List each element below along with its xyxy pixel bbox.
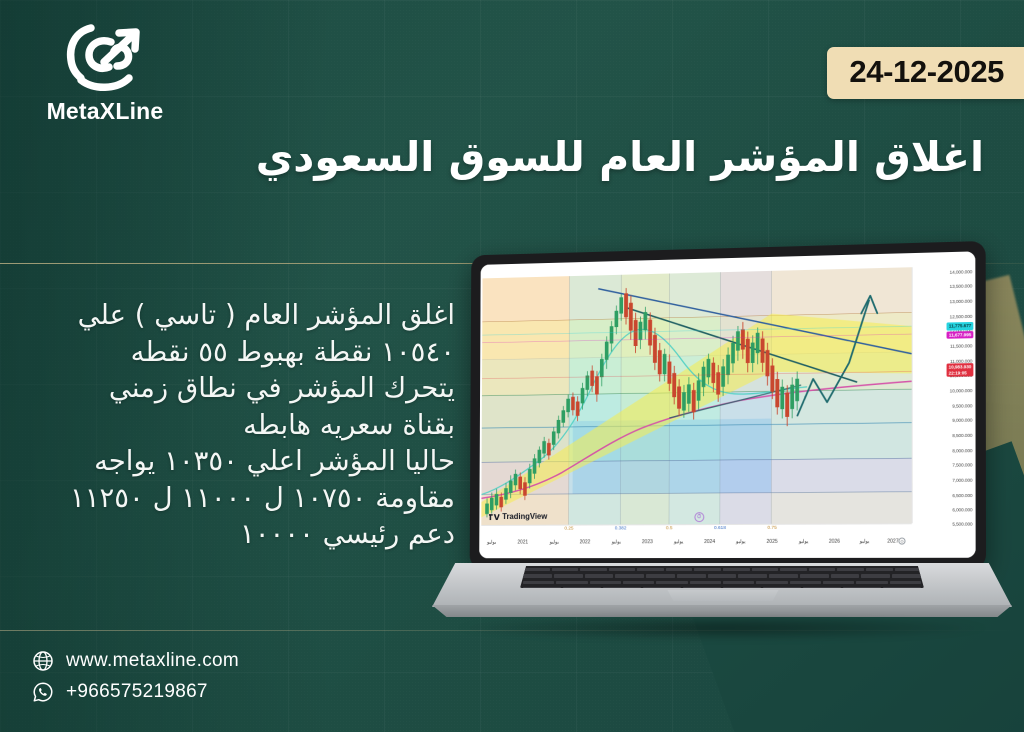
time-tick: يوليو xyxy=(736,539,746,545)
fib-label: 0.5 xyxy=(666,526,673,531)
price-label-cyan: 11,775.677 xyxy=(947,322,974,330)
brand-block: MetaXLine xyxy=(30,18,180,125)
keyboard-row xyxy=(520,566,924,573)
body-line: اغلق المؤشر العام ( تاسي ) علي xyxy=(15,297,455,334)
price-label-magenta: 11,677.995 xyxy=(947,331,974,339)
price-tick: 13,000.000 xyxy=(950,299,973,305)
time-tick: 2026 xyxy=(829,539,840,545)
time-tick: 2025 xyxy=(767,539,778,545)
axis-settings-icon[interactable]: ⊙ xyxy=(898,538,905,545)
footer-phone-row[interactable]: +966575219867 xyxy=(32,681,239,703)
price-axis[interactable]: 14,000.000 13,500.000 13,000.000 12,500.… xyxy=(912,266,976,524)
price-label-current: 10,983.930 22:19:05 xyxy=(947,363,974,376)
body-line: حاليا المؤشر اعلي ١٠٣٥٠ يواجه xyxy=(15,443,455,480)
price-tick: 12,500.000 xyxy=(950,313,973,319)
date-badge: 24-12-2025 xyxy=(827,47,1024,99)
time-tick: 2021 xyxy=(517,540,528,546)
laptop-base-surface xyxy=(432,563,1012,607)
replay-icon[interactable]: ⏱ xyxy=(694,512,704,522)
price-label-current-time: 22:19:05 xyxy=(949,370,967,375)
whatsapp-icon xyxy=(32,681,54,703)
metaxline-logo-icon xyxy=(59,18,151,96)
chart-svg xyxy=(481,267,911,525)
body-line: بقناة سعريه هابطه xyxy=(15,407,455,444)
time-tick: 2023 xyxy=(642,539,653,545)
fib-label: 0.382 xyxy=(615,526,627,531)
time-tick: 2027 xyxy=(887,539,898,545)
fib-label: 0.75 xyxy=(767,526,776,531)
price-tick: 8,000.000 xyxy=(952,448,972,453)
price-tick: 11,500.000 xyxy=(950,343,972,349)
time-axis[interactable]: TradingView ⏱ 0.25 0.382 0.5 0.618 0.75 … xyxy=(481,523,912,558)
laptop-screen: 14,000.000 13,500.000 13,000.000 12,500.… xyxy=(479,251,975,558)
time-tick: 2024 xyxy=(704,539,715,545)
time-tick: يوليو xyxy=(612,539,621,545)
price-tick: 7,000.000 xyxy=(952,478,972,483)
price-tick: 9,500.000 xyxy=(952,403,972,408)
brand-name: MetaXLine xyxy=(30,98,180,125)
price-tick: 6,500.000 xyxy=(952,493,972,498)
laptop-mockup: 14,000.000 13,500.000 13,000.000 12,500.… xyxy=(432,247,1012,667)
price-tick: 13,500.000 xyxy=(950,284,973,290)
footer-contact: www.metaxline.com +966575219867 xyxy=(32,650,239,712)
price-tick: 8,500.000 xyxy=(952,433,972,438)
globe-icon xyxy=(32,650,54,672)
fib-label: 0.25 xyxy=(564,527,573,532)
laptop-drop-shadow xyxy=(452,615,992,641)
price-tick: 6,000.000 xyxy=(952,508,972,513)
keyboard-row xyxy=(520,586,924,588)
time-tick: يوليو xyxy=(674,539,683,545)
time-tick: يوليو xyxy=(860,539,870,545)
page-title: اغلاق المؤشر العام للسوق السعودي xyxy=(154,134,984,182)
body-line: ١٠٥٤٠ نقطة بهبوط ٥٥ نقطه xyxy=(15,334,455,371)
body-text-block: اغلق المؤشر العام ( تاسي ) علي ١٠٥٤٠ نقط… xyxy=(15,297,455,553)
body-line: دعم رئيسي ١٠٠٠٠ xyxy=(15,516,455,553)
time-tick: يوليو xyxy=(550,539,559,545)
laptop-keyboard xyxy=(520,566,924,588)
tradingview-label: TradingView xyxy=(502,512,547,521)
laptop-trackpad xyxy=(664,590,782,601)
time-tick: يوليو xyxy=(487,540,496,546)
price-tick: 5,500.000 xyxy=(952,522,972,527)
footer-website-row[interactable]: www.metaxline.com xyxy=(32,650,239,672)
tradingview-logo[interactable]: TradingView xyxy=(489,512,547,521)
time-tick: 2022 xyxy=(580,539,591,545)
tradingview-chart[interactable]: 14,000.000 13,500.000 13,000.000 12,500.… xyxy=(479,251,975,558)
body-line: مقاومة ١٠٧٥٠ ل ١١٠٠٠ ل ١١٢٥٠ xyxy=(15,480,455,517)
footer-website-text: www.metaxline.com xyxy=(66,650,239,672)
laptop-base xyxy=(432,563,1012,623)
keyboard-row xyxy=(520,573,924,580)
price-tick: 9,000.000 xyxy=(952,418,972,423)
chart-plot-area[interactable] xyxy=(481,267,911,525)
price-tick: 14,000.000 xyxy=(950,269,973,275)
poster-canvas: MetaXLine 24-12-2025 اغلاق المؤشر العام … xyxy=(0,0,1024,732)
body-line: يتحرك المؤشر في نطاق زمني xyxy=(15,370,455,407)
fib-label: 0.618 xyxy=(714,526,726,531)
footer-phone-text: +966575219867 xyxy=(66,681,208,703)
tradingview-mark-icon xyxy=(489,513,500,521)
time-tick: يوليو xyxy=(799,539,809,545)
keyboard-row xyxy=(520,579,924,586)
price-tick: 10,000.000 xyxy=(950,388,973,393)
price-tick: 7,500.000 xyxy=(952,463,972,468)
laptop-lid: 14,000.000 13,500.000 13,000.000 12,500.… xyxy=(470,241,986,569)
